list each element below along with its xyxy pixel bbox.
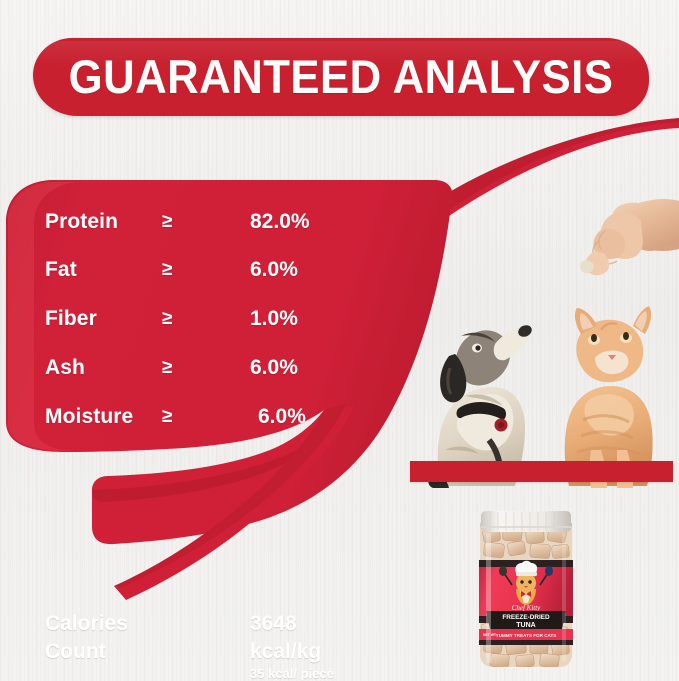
nutrient-name: Fiber bbox=[45, 307, 97, 331]
table-row: Ash ≥ 6.0% bbox=[0, 356, 360, 390]
nutrient-operator: ≥ bbox=[162, 406, 172, 428]
calories-value-number: 3648 bbox=[250, 610, 321, 638]
title-banner: GUARANTEED ANALYSIS bbox=[33, 38, 649, 116]
nutrient-value: 82.0% bbox=[250, 210, 310, 234]
nutrient-name: Protein bbox=[45, 210, 118, 234]
nutrient-value: 6.0% bbox=[258, 405, 306, 429]
calories-value: 3648 kcal/kg bbox=[250, 610, 321, 666]
calories-per-piece-note: 35 kcal/ piece bbox=[250, 666, 334, 681]
nutrient-operator: ≥ bbox=[162, 308, 172, 330]
hand-holding-treat-icon bbox=[555, 185, 679, 285]
jar-product-name-line1: FREEZE-DRIED bbox=[502, 614, 550, 621]
guaranteed-analysis-table: Protein ≥ 82.0% Fat ≥ 6.0% Fiber ≥ 1.0% … bbox=[0, 160, 400, 560]
nutrient-value: 6.0% bbox=[250, 356, 298, 380]
product-jar: Chef Kitty FREEZE-DRIED TUNA YUMMY TREAT… bbox=[470, 503, 582, 671]
nutrient-operator: ≥ bbox=[162, 259, 172, 281]
guaranteed-analysis-infographic: GUARANTEED ANALYSIS Protein ≥ 8 bbox=[0, 0, 679, 681]
table-row: Moisture ≥ 6.0% bbox=[0, 405, 360, 439]
nutrient-name: Ash bbox=[45, 356, 85, 380]
calories-value-unit: kcal/kg bbox=[250, 638, 321, 666]
nutrient-operator: ≥ bbox=[162, 211, 172, 233]
nutrient-value: 6.0% bbox=[250, 258, 298, 282]
jar-lid bbox=[481, 511, 571, 532]
calories-label-line1: Calories bbox=[45, 610, 128, 638]
calories-label: Calories Count bbox=[45, 610, 128, 666]
table-row: Protein ≥ 82.0% bbox=[0, 210, 360, 244]
table-row: Fiber ≥ 1.0% bbox=[0, 307, 360, 341]
table-row: Fat ≥ 6.0% bbox=[0, 258, 360, 292]
jar-product-name-line2: TUNA bbox=[516, 622, 535, 629]
jar-label: Chef Kitty FREEZE-DRIED TUNA YUMMY TREAT… bbox=[479, 560, 573, 645]
nutrient-name: Fat bbox=[45, 258, 77, 282]
jar-brand-text: Chef Kitty bbox=[512, 604, 541, 612]
nutrient-value: 1.0% bbox=[250, 307, 298, 331]
jar-tagline: YUMMY TREATS FOR CATS bbox=[496, 633, 557, 638]
nutrient-name: Moisture bbox=[45, 405, 133, 429]
page-title: GUARANTEED ANALYSIS bbox=[55, 52, 628, 102]
red-platform-bar bbox=[410, 461, 673, 482]
nutrient-operator: ≥ bbox=[162, 357, 172, 379]
calories-label-line2: Count bbox=[45, 638, 128, 666]
